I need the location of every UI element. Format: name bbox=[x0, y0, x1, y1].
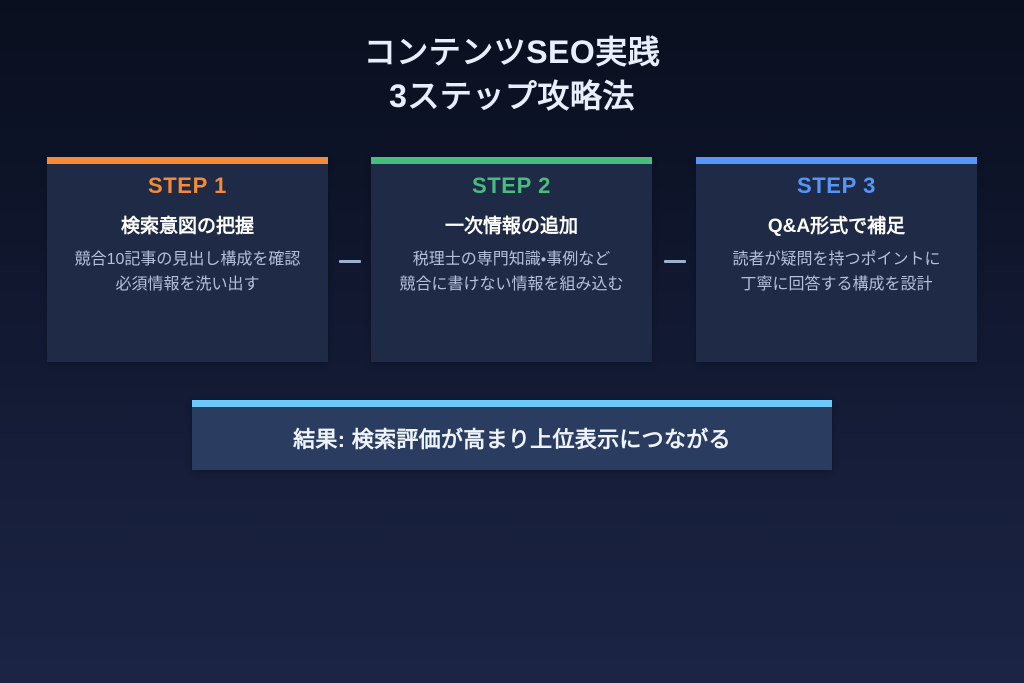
step-card-3: STEP 3 Q&A形式で補足 読者が疑問を持つポイントに 丁寧に回答する構成を… bbox=[696, 157, 977, 362]
step-3-description-line-1: 読者が疑問を持つポイントに bbox=[708, 248, 965, 273]
connector-arrow-1-icon bbox=[339, 260, 361, 263]
step-1-description-line-1: 競合10記事の見出し構成を確認 bbox=[59, 248, 316, 273]
step-3-accent-bar bbox=[696, 157, 977, 164]
page-title-line-2: 3ステップ攻略法 bbox=[0, 74, 1024, 118]
page-title-line-1: コンテンツSEO実践 bbox=[0, 30, 1024, 74]
step-1-description-line-2: 必須情報を洗い出す bbox=[59, 273, 316, 298]
steps-row: STEP 1 検索意図の把握 競合10記事の見出し構成を確認 必須情報を洗い出す… bbox=[47, 157, 977, 362]
step-1-label: STEP 1 bbox=[47, 173, 328, 199]
result-text: 結果: 検索評価が高まり上位表示につながる bbox=[192, 400, 832, 470]
step-2-description-line-2: 競合に書けない情報を組み込む bbox=[383, 273, 640, 298]
step-2-accent-bar bbox=[371, 157, 652, 164]
step-card-1: STEP 1 検索意図の把握 競合10記事の見出し構成を確認 必須情報を洗い出す bbox=[47, 157, 328, 362]
step-3-heading: Q&A形式で補足 bbox=[696, 211, 977, 238]
slide-canvas: コンテンツSEO実践 3ステップ攻略法 STEP 1 検索意図の把握 競合10記… bbox=[0, 0, 1024, 683]
step-3-description-line-2: 丁寧に回答する構成を設計 bbox=[708, 273, 965, 298]
step-3-description: 読者が疑問を持つポイントに 丁寧に回答する構成を設計 bbox=[708, 248, 965, 298]
step-3-label: STEP 3 bbox=[696, 173, 977, 199]
step-card-2: STEP 2 一次情報の追加 税理士の専門知識・事例など 競合に書けない情報を組… bbox=[371, 157, 652, 362]
step-1-accent-bar bbox=[47, 157, 328, 164]
step-1-description: 競合10記事の見出し構成を確認 必須情報を洗い出す bbox=[59, 248, 316, 298]
step-2-label: STEP 2 bbox=[371, 173, 652, 199]
result-banner: 結果: 検索評価が高まり上位表示につながる bbox=[192, 400, 832, 470]
step-1-heading: 検索意図の把握 bbox=[47, 211, 328, 238]
step-2-heading: 一次情報の追加 bbox=[371, 211, 652, 238]
step-2-description: 税理士の専門知識・事例など 競合に書けない情報を組み込む bbox=[383, 248, 640, 298]
connector-arrow-2-icon bbox=[664, 260, 686, 263]
step-2-description-line-1: 税理士の専門知識・事例など bbox=[383, 248, 640, 273]
page-title: コンテンツSEO実践 3ステップ攻略法 bbox=[0, 30, 1024, 118]
